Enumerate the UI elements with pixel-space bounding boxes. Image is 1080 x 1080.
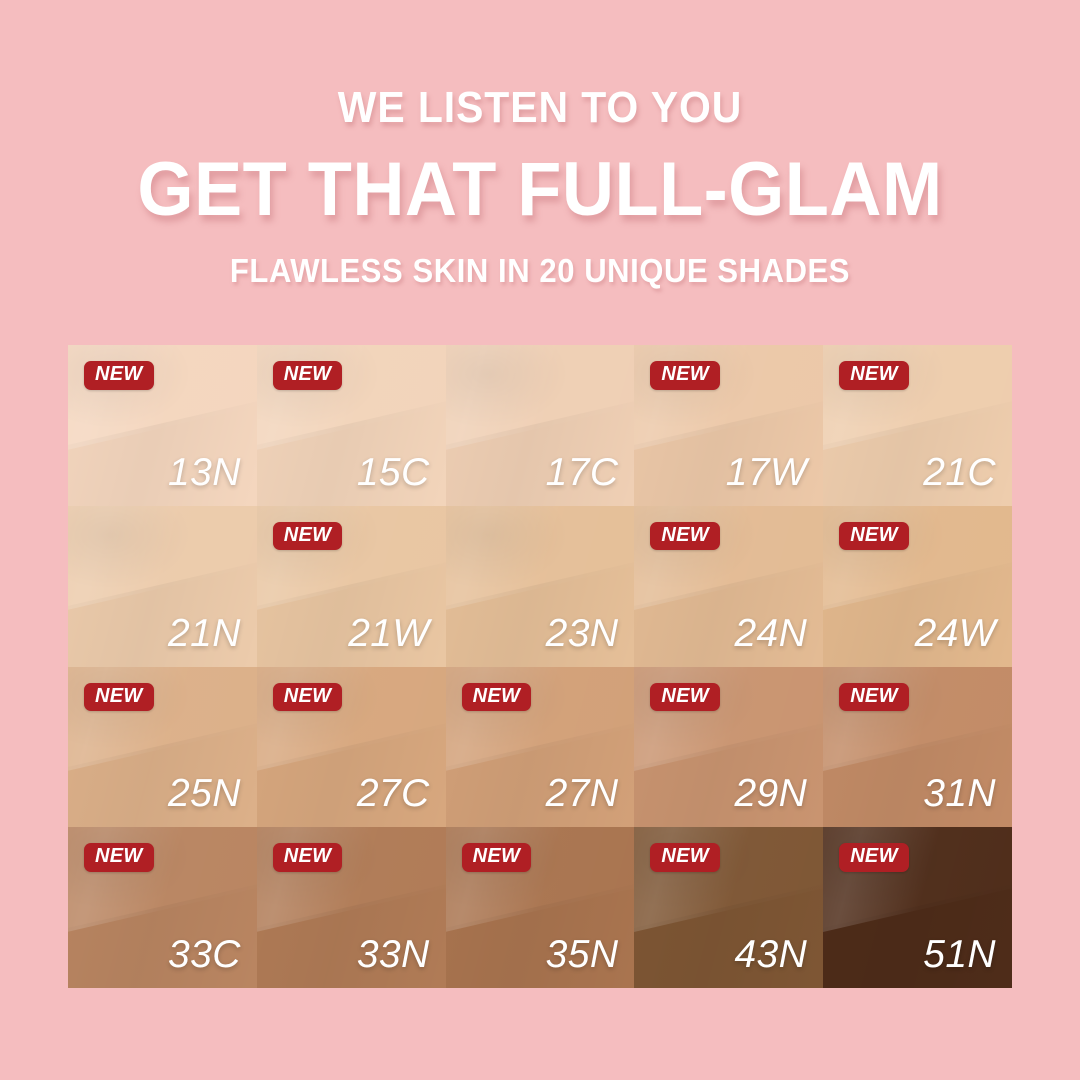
promo-page: WE LISTEN TO YOU GET THAT FULL-GLAM FLAW… (0, 0, 1080, 1080)
shade-swatch[interactable]: NEW25N (68, 667, 257, 828)
swatch-sheen-highlight (446, 506, 635, 618)
new-badge: NEW (839, 843, 909, 872)
shade-code-label: 21W (348, 614, 429, 653)
shade-code-label: 51N (923, 935, 996, 974)
shade-swatch[interactable]: NEW17W (634, 345, 823, 506)
shade-swatch[interactable]: NEW27C (257, 667, 446, 828)
new-badge: NEW (839, 683, 909, 712)
headline-kicker: WE LISTEN TO YOU (38, 86, 1042, 130)
shade-code-label: 31N (923, 774, 996, 813)
shade-code-label: 21C (923, 453, 996, 492)
new-badge: NEW (839, 361, 909, 390)
shade-swatch-grid: NEW13NNEW15CNEW17CNEW17WNEW21CNEW21NNEW2… (68, 345, 1012, 988)
new-badge: NEW (273, 843, 343, 872)
new-badge: NEW (839, 522, 909, 551)
new-badge: NEW (650, 361, 720, 390)
shade-swatch[interactable]: NEW33N (257, 827, 446, 988)
shade-code-label: 13N (168, 453, 241, 492)
shade-swatch[interactable]: NEW24W (823, 506, 1012, 667)
shade-swatch[interactable]: NEW21W (257, 506, 446, 667)
new-badge: NEW (650, 522, 720, 551)
shade-code-label: 35N (546, 935, 619, 974)
shade-swatch[interactable]: NEW33C (68, 827, 257, 988)
shade-swatch[interactable]: NEW17C (446, 345, 635, 506)
shade-code-label: 23N (546, 614, 619, 653)
shade-code-label: 24W (915, 614, 996, 653)
swatch-sheen-highlight (68, 506, 257, 618)
shade-code-label: 21N (168, 614, 241, 653)
shade-code-label: 29N (734, 774, 807, 813)
shade-swatch[interactable]: NEW23N (446, 506, 635, 667)
new-badge: NEW (84, 683, 154, 712)
shade-swatch[interactable]: NEW43N (634, 827, 823, 988)
shade-swatch[interactable]: NEW27N (446, 667, 635, 828)
shade-code-label: 17W (726, 453, 807, 492)
new-badge: NEW (273, 522, 343, 551)
shade-code-label: 27N (546, 774, 619, 813)
shade-code-label: 33N (357, 935, 430, 974)
new-badge: NEW (462, 683, 532, 712)
new-badge: NEW (84, 361, 154, 390)
shade-swatch[interactable]: NEW13N (68, 345, 257, 506)
new-badge: NEW (650, 843, 720, 872)
new-badge: NEW (273, 683, 343, 712)
new-badge: NEW (273, 361, 343, 390)
shade-code-label: 15C (357, 453, 430, 492)
shade-code-label: 24N (734, 614, 807, 653)
new-badge: NEW (84, 843, 154, 872)
shade-swatch[interactable]: NEW21C (823, 345, 1012, 506)
shade-code-label: 43N (734, 935, 807, 974)
shade-code-label: 27C (357, 774, 430, 813)
new-badge: NEW (462, 843, 532, 872)
shade-swatch[interactable]: NEW51N (823, 827, 1012, 988)
shade-swatch[interactable]: NEW24N (634, 506, 823, 667)
shade-swatch[interactable]: NEW15C (257, 345, 446, 506)
shade-swatch[interactable]: NEW31N (823, 667, 1012, 828)
header-block: WE LISTEN TO YOU GET THAT FULL-GLAM FLAW… (0, 0, 1080, 287)
headline-main: GET THAT FULL-GLAM (27, 152, 1053, 228)
shade-code-label: 17C (546, 453, 619, 492)
swatch-sheen-highlight (446, 345, 635, 457)
shade-swatch[interactable]: NEW35N (446, 827, 635, 988)
shade-swatch[interactable]: NEW29N (634, 667, 823, 828)
shade-code-label: 33C (168, 935, 241, 974)
headline-subheadline: FLAWLESS SKIN IN 20 UNIQUE SHADES (32, 254, 1047, 287)
shade-swatch[interactable]: NEW21N (68, 506, 257, 667)
shade-code-label: 25N (168, 774, 241, 813)
new-badge: NEW (650, 683, 720, 712)
